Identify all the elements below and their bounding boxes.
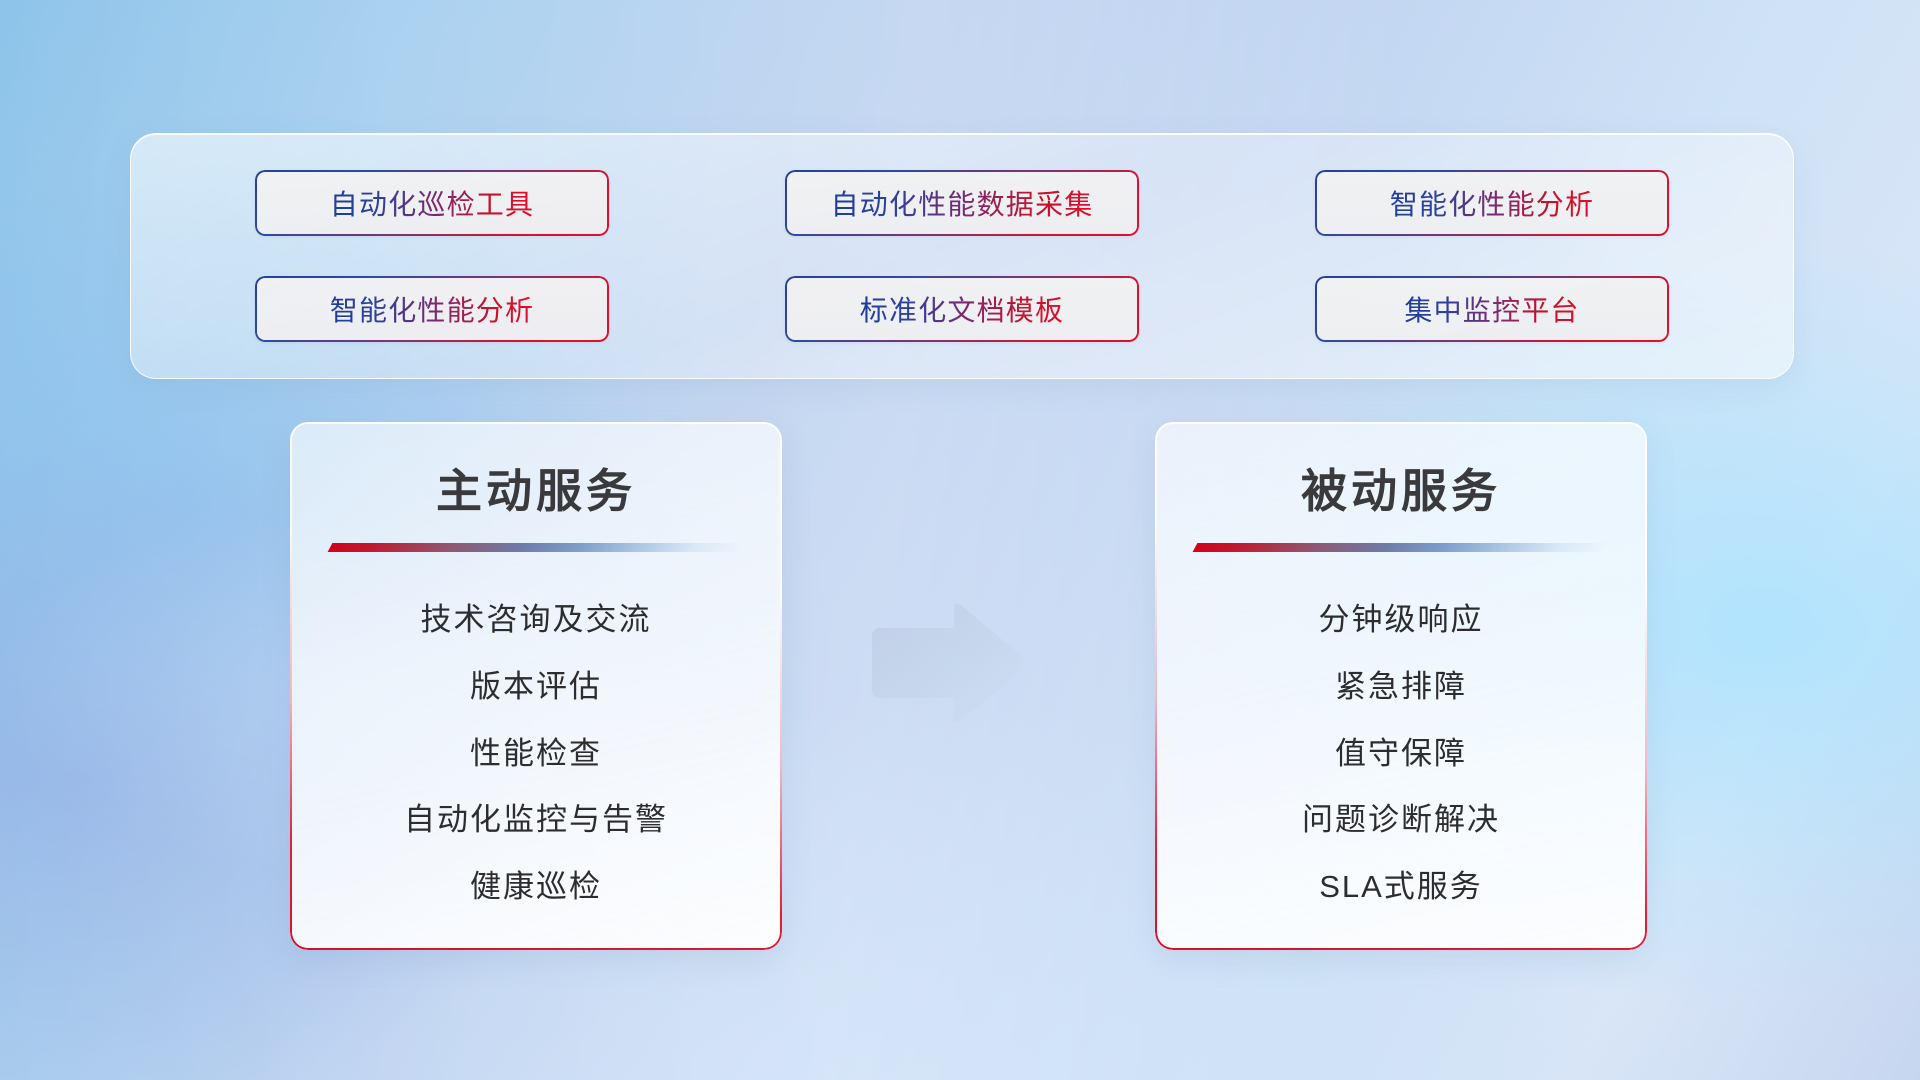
list-item: 值守保障 bbox=[1195, 735, 1607, 772]
service-item-list: 分钟级响应 紧急排障 值守保障 问题诊断解决 SLA式服务 bbox=[1195, 587, 1607, 920]
title-divider bbox=[330, 543, 742, 553]
list-item: SLA式服务 bbox=[1195, 868, 1607, 905]
list-item: 紧急排障 bbox=[1195, 668, 1607, 705]
capability-tag[interactable]: 智能化性能分析 bbox=[1315, 170, 1669, 236]
list-item: 健康巡检 bbox=[330, 868, 742, 905]
service-card-proactive: 主动服务 技术咨询及交流 版本评估 性能检查 自动化监控与告警 健康巡检 bbox=[290, 422, 782, 950]
capability-tag[interactable]: 智能化性能分析 bbox=[255, 276, 609, 342]
capability-tag-label: 自动化性能数据采集 bbox=[831, 183, 1094, 223]
list-item: 版本评估 bbox=[330, 668, 742, 705]
capability-tags-panel: 自动化巡检工具 自动化性能数据采集 智能化性能分析 智能化性能分析 标准化文档模… bbox=[130, 133, 1794, 379]
list-item: 问题诊断解决 bbox=[1195, 801, 1607, 838]
capability-tag-label: 智能化性能分析 bbox=[1390, 183, 1594, 223]
service-card-title: 被动服务 bbox=[1195, 466, 1607, 517]
service-card-body: 被动服务 分钟级响应 紧急排障 值守保障 问题诊断解决 SLA式服务 bbox=[1155, 422, 1647, 950]
capability-tag-label: 标准化文档模板 bbox=[860, 289, 1064, 329]
service-card-reactive: 被动服务 分钟级响应 紧急排障 值守保障 问题诊断解决 SLA式服务 bbox=[1155, 422, 1647, 950]
capability-tag[interactable]: 自动化性能数据采集 bbox=[785, 170, 1139, 236]
capability-tag[interactable]: 标准化文档模板 bbox=[785, 276, 1139, 342]
capability-tag-label: 集中监控平台 bbox=[1404, 289, 1579, 329]
capability-tag[interactable]: 集中监控平台 bbox=[1315, 276, 1669, 342]
title-divider bbox=[1195, 543, 1607, 553]
slide-canvas: 自动化巡检工具 自动化性能数据采集 智能化性能分析 智能化性能分析 标准化文档模… bbox=[0, 0, 1920, 1080]
capability-tag[interactable]: 自动化巡检工具 bbox=[255, 170, 609, 236]
service-item-list: 技术咨询及交流 版本评估 性能检查 自动化监控与告警 健康巡检 bbox=[330, 587, 742, 920]
right-arrow-icon bbox=[862, 598, 1030, 728]
capability-tag-label: 自动化巡检工具 bbox=[330, 183, 534, 223]
service-card-title: 主动服务 bbox=[330, 466, 742, 517]
capability-tag-label: 智能化性能分析 bbox=[330, 289, 534, 329]
list-item: 自动化监控与告警 bbox=[330, 801, 742, 838]
list-item: 技术咨询及交流 bbox=[330, 601, 742, 638]
capability-tags-grid: 自动化巡检工具 自动化性能数据采集 智能化性能分析 智能化性能分析 标准化文档模… bbox=[131, 134, 1793, 378]
service-card-body: 主动服务 技术咨询及交流 版本评估 性能检查 自动化监控与告警 健康巡检 bbox=[290, 422, 782, 950]
list-item: 性能检查 bbox=[330, 735, 742, 772]
list-item: 分钟级响应 bbox=[1195, 601, 1607, 638]
